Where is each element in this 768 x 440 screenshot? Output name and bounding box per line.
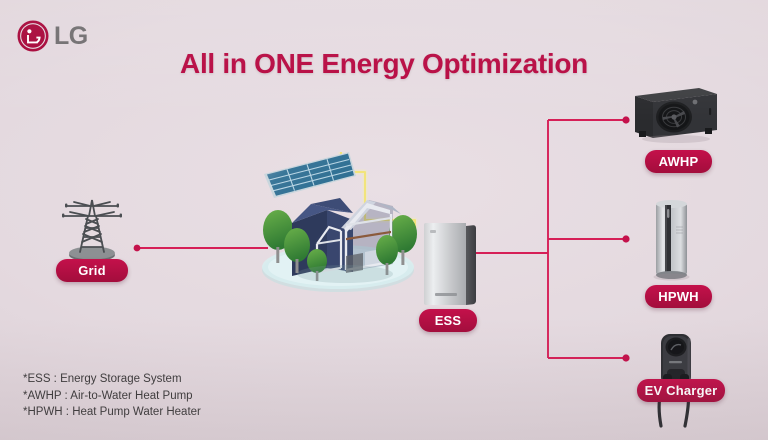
footnote-ess: *ESS : Energy Storage System bbox=[23, 371, 201, 388]
footnotes: *ESS : Energy Storage System *AWHP : Air… bbox=[23, 371, 201, 421]
label-grid[interactable]: Grid bbox=[56, 259, 128, 282]
ess-side-panel bbox=[466, 225, 476, 305]
slide-canvas: LG All in ONE Energy Optimization bbox=[0, 0, 768, 440]
heat-pump-water-heater-icon bbox=[650, 197, 694, 279]
ess-brand-strip bbox=[435, 293, 457, 296]
ess-front-panel bbox=[424, 223, 466, 305]
label-ev-charger[interactable]: EV Charger bbox=[637, 379, 725, 402]
footnote-awhp: *AWHP : Air-to-Water Heat Pump bbox=[23, 388, 201, 405]
lg-wordmark: LG bbox=[54, 24, 88, 49]
house-scene bbox=[245, 128, 435, 298]
energy-storage-unit-icon bbox=[424, 223, 476, 305]
air-to-water-heat-pump-icon bbox=[629, 86, 721, 144]
ess-indicator bbox=[430, 230, 436, 233]
page-title: All in ONE Energy Optimization bbox=[0, 48, 768, 80]
footnote-hpwh: *HPWH : Heat Pump Water Heater bbox=[23, 404, 201, 421]
solar-panel-icon bbox=[264, 152, 356, 198]
label-awhp[interactable]: AWHP bbox=[645, 150, 712, 173]
transmission-tower-icon bbox=[52, 190, 132, 262]
label-ess[interactable]: ESS bbox=[419, 309, 477, 332]
label-hpwh[interactable]: HPWH bbox=[645, 285, 712, 308]
